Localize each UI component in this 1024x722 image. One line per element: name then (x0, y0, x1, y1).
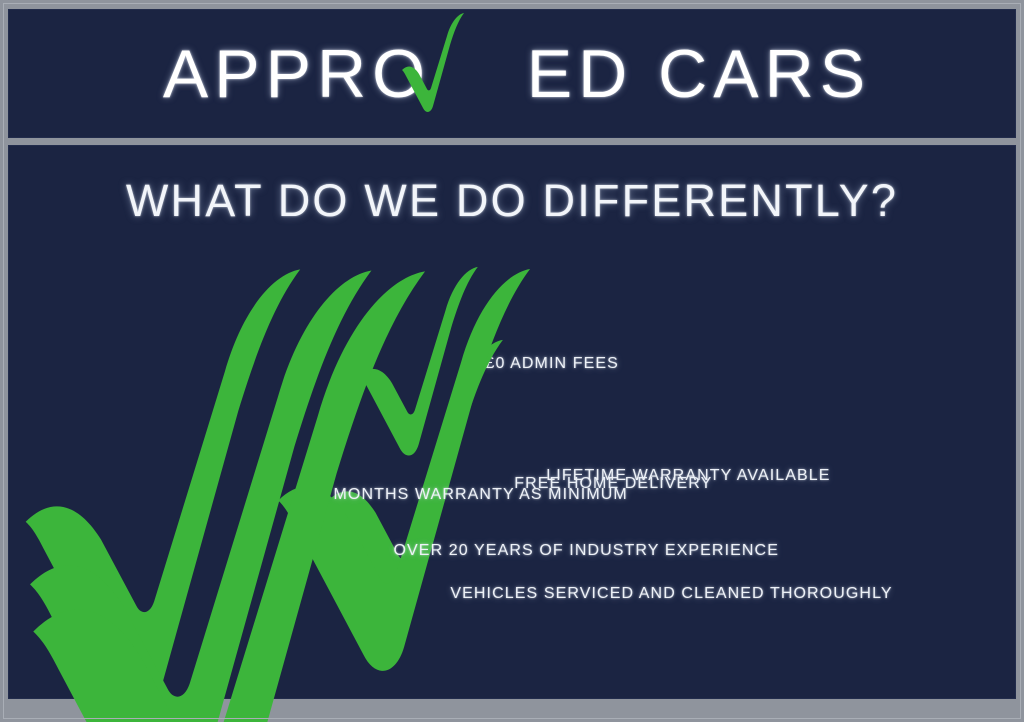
brand-text-after-v: ED CARS (527, 36, 871, 112)
list-item-label: OVER 20 YEARS OF INDUSTRY EXPERIENCE (393, 542, 778, 560)
list-item: VEHICLES SERVICED AND CLEANED THOROUGHLY (8, 265, 450, 722)
body-panel: WHAT DO WE DO DIFFERENTLY? £0 ADMIN FEES… (8, 145, 1016, 699)
brand-text-before-v: APPRO (163, 36, 431, 112)
brand-logotype: APPRO ED CARS (153, 40, 871, 108)
check-icon (398, 12, 468, 116)
approved-cars-poster: APPRO ED CARS WHAT DO WE DO DIFFERENTLY?… (0, 0, 1024, 722)
benefit-list: £0 ADMIN FEES FREE HOME DELIVERY LIFETIM… (8, 265, 1016, 685)
page-title: WHAT DO WE DO DIFFERENTLY? (8, 175, 1016, 227)
check-icon (8, 265, 450, 722)
header-band: APPRO ED CARS (8, 9, 1016, 138)
list-item-label: LIFETIME WARRANTY AVAILABLE (546, 467, 830, 485)
list-item-label: VEHICLES SERVICED AND CLEANED THOROUGHLY (450, 585, 892, 603)
